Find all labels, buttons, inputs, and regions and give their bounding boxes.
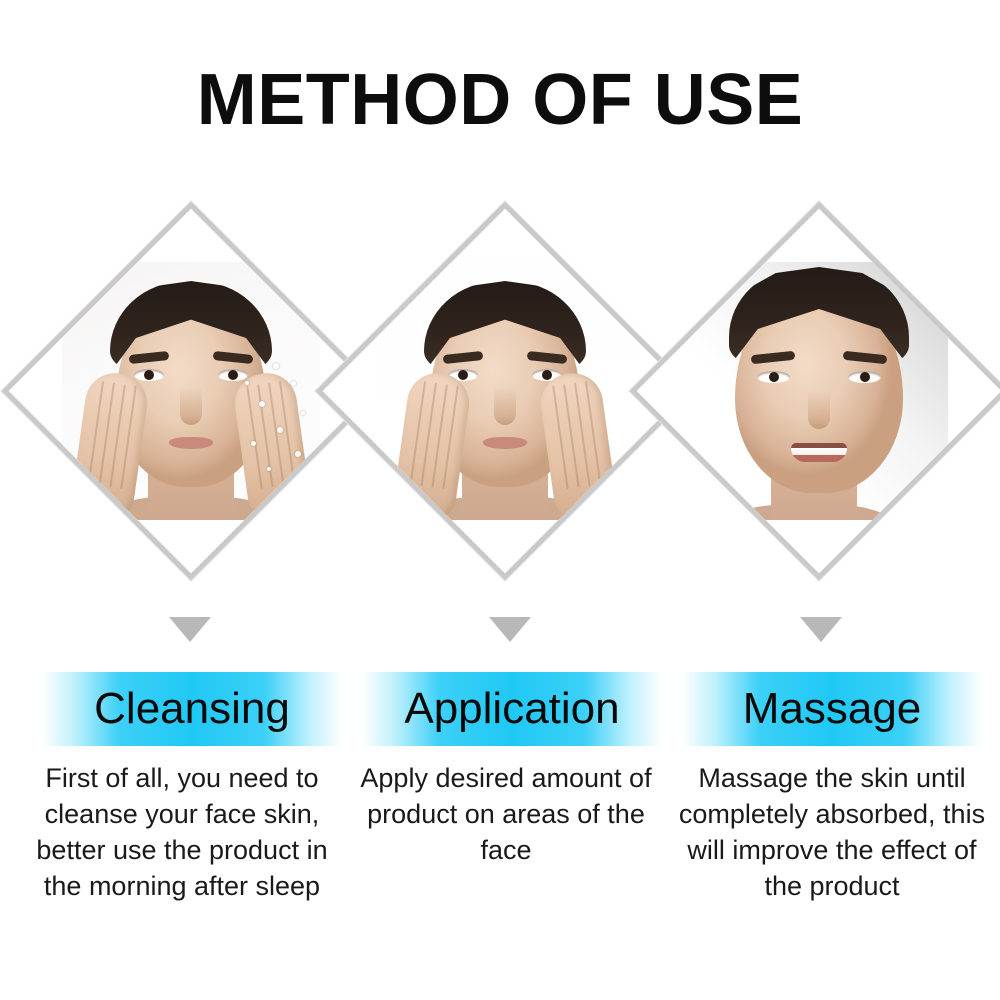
triangle-down-icon-massage [800,617,842,642]
diamond-inner [376,262,634,520]
photo-cleansing [62,262,320,520]
triangle-down-icon-cleansing [169,617,211,642]
diamond-frame [629,201,1000,580]
diamond-inner [62,262,320,520]
step-image-row [0,200,1000,572]
step-label-band-massage: Massage [682,672,982,746]
triangle-down-icon-application [489,617,531,642]
step-label-band-application: Application [362,672,662,746]
photo-application [376,262,634,520]
step-label-application: Application [404,687,619,731]
step-label-cleansing: Cleansing [94,687,290,731]
step-label-massage: Massage [743,687,922,731]
step-description-application: Apply desired amount of product on areas… [348,760,664,868]
diamond-inner [690,262,948,520]
page-title: METHOD OF USE [0,64,1000,136]
photo-massage [690,262,948,520]
step-image-massage[interactable] [628,200,1000,572]
step-label-band-cleansing: Cleansing [42,672,342,746]
water-droplets-icon [62,262,320,520]
step-description-massage: Massage the skin until completely absorb… [672,760,992,904]
step-description-cleansing: First of all, you need to cleanse your f… [22,760,342,904]
